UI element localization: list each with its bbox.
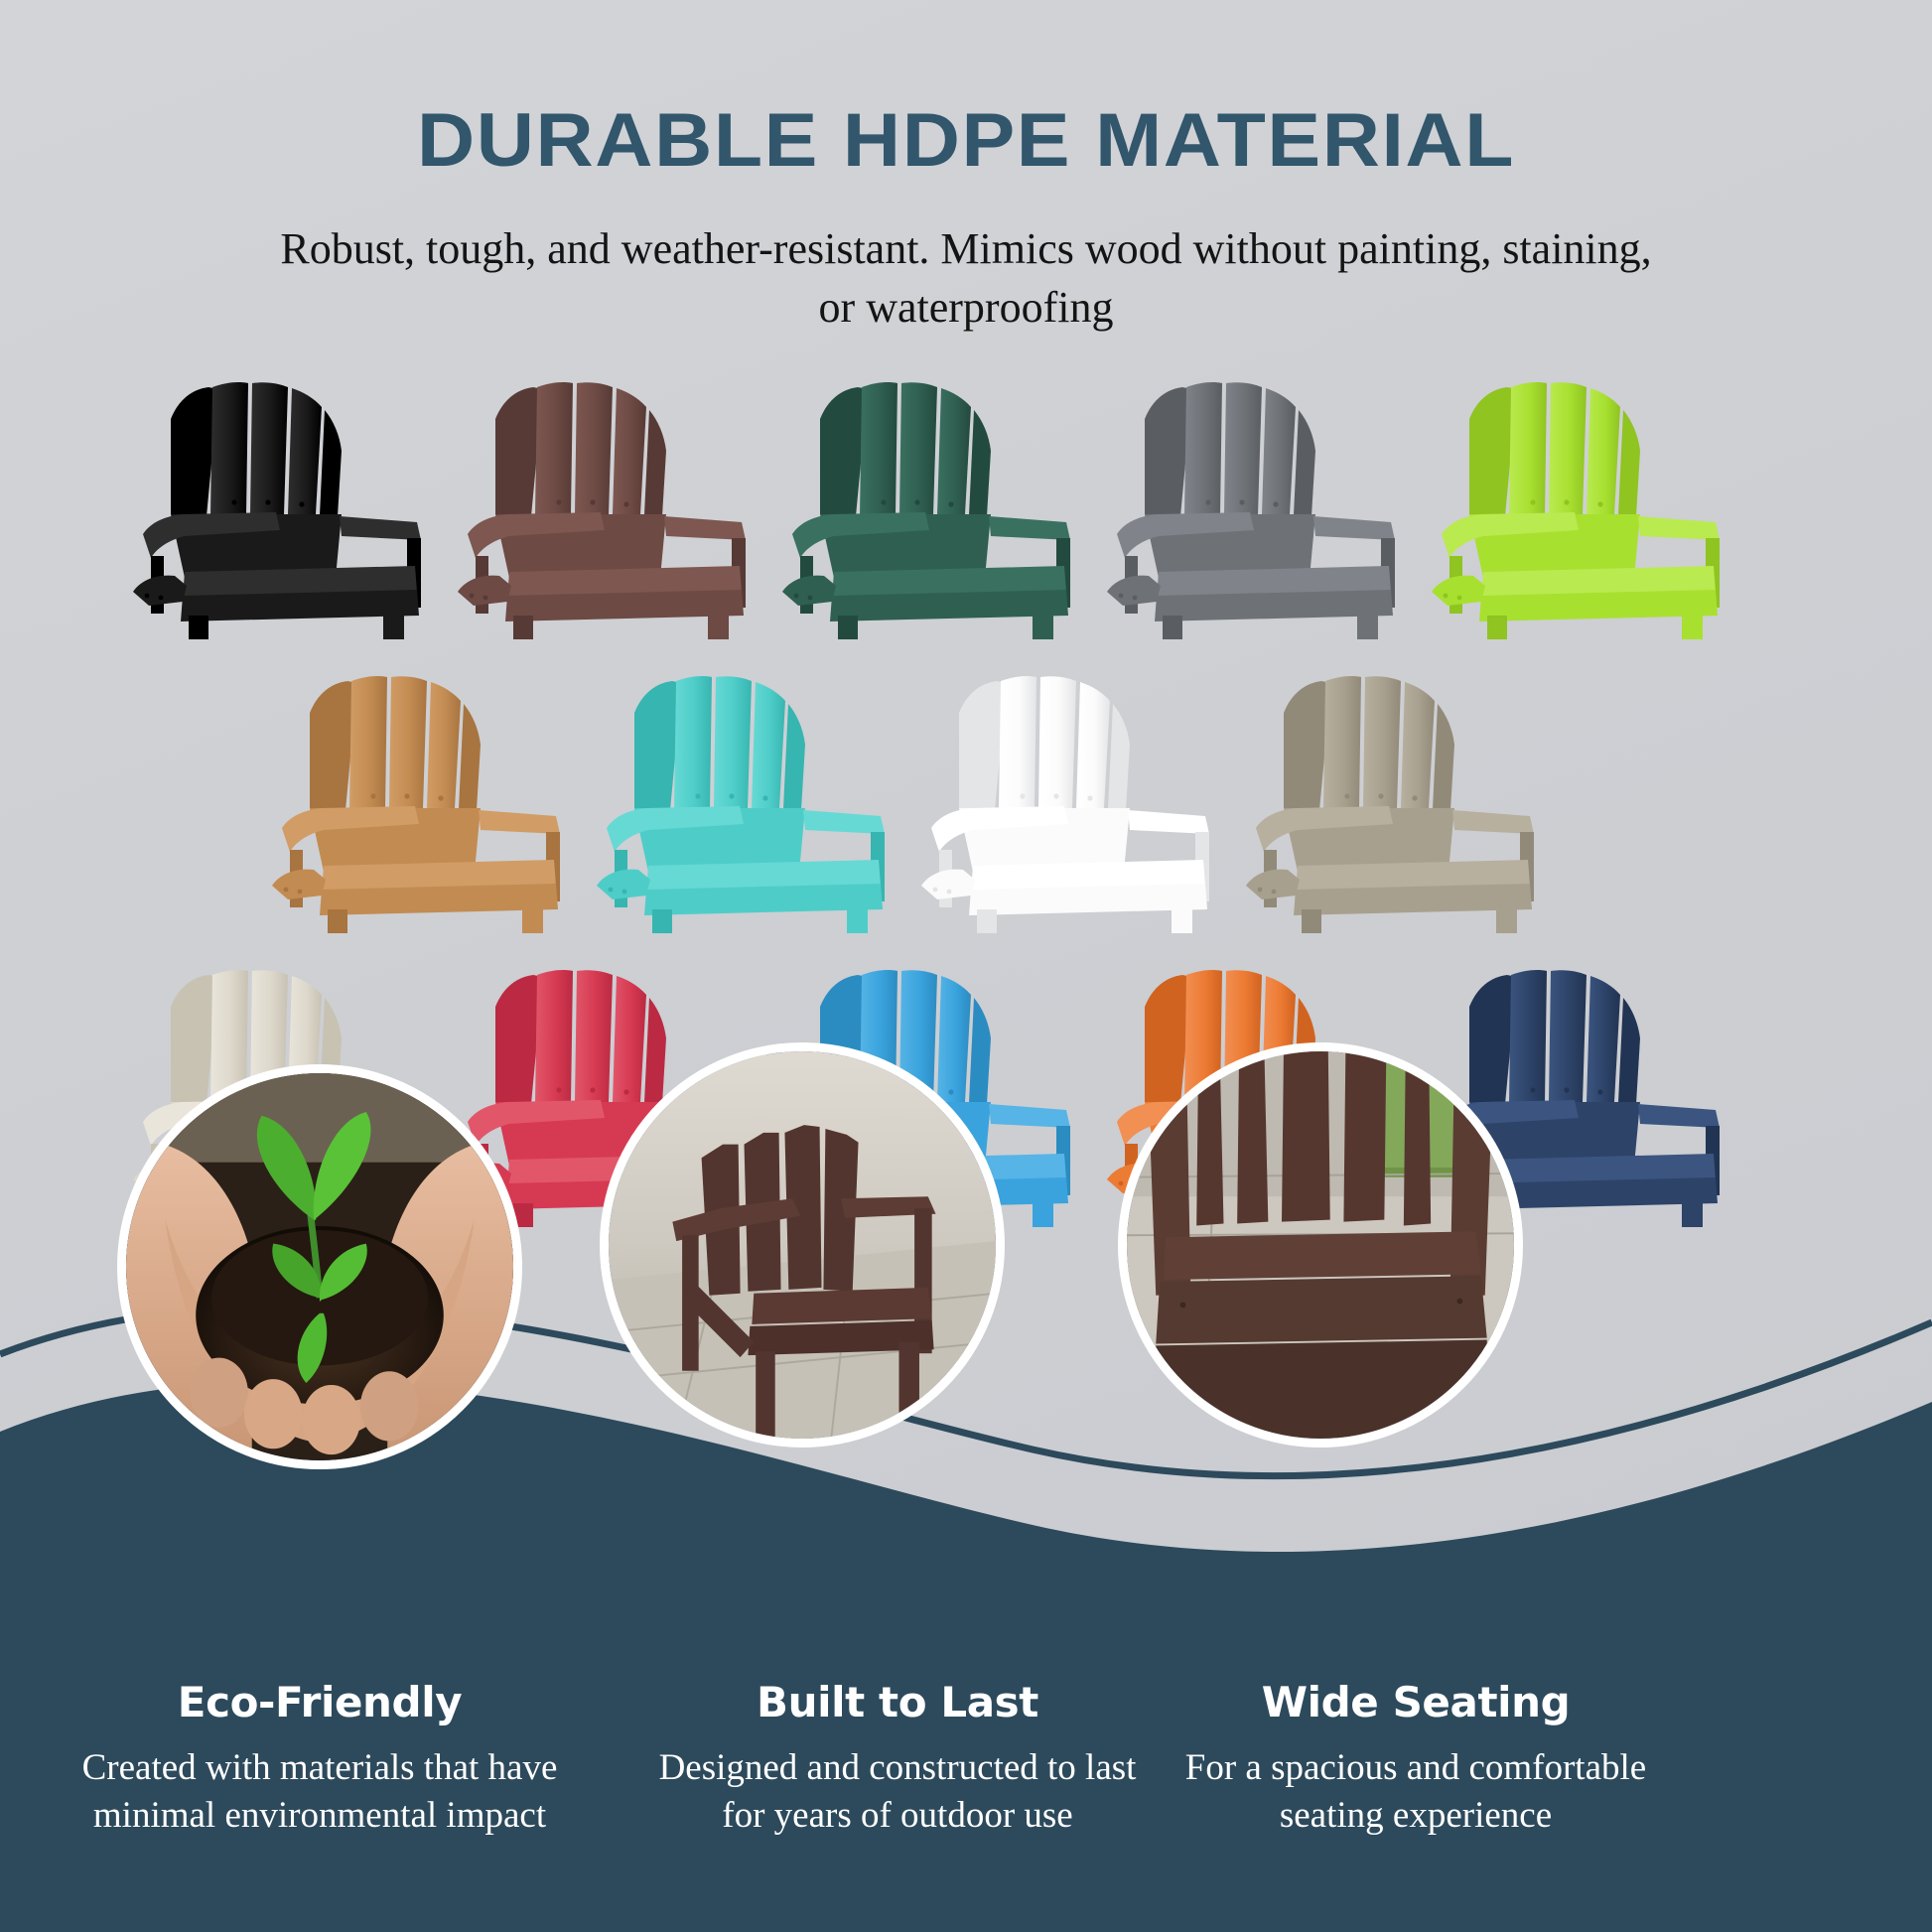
chair-swatch-gray[interactable] xyxy=(1101,365,1399,641)
header: DURABLE HDPE MATERIAL Robust, tough, and… xyxy=(0,0,1932,338)
adirondack-chair-gray-icon xyxy=(1101,365,1399,641)
chair-swatch-teak[interactable] xyxy=(266,659,564,935)
adirondack-chair-khaki-icon xyxy=(1240,659,1538,935)
infographic-canvas: DURABLE HDPE MATERIAL Robust, tough, and… xyxy=(0,0,1932,1932)
page-subtitle: Robust, tough, and weather-resistant. Mi… xyxy=(261,220,1671,338)
adirondack-chair-white-icon xyxy=(915,659,1213,935)
page-title: DURABLE HDPE MATERIAL xyxy=(0,103,1932,179)
feature-description: Created with materials that have minimal… xyxy=(62,1744,578,1840)
brown-adirondack-chair-photo xyxy=(609,1051,996,1439)
feature-title: Eco-Friendly xyxy=(62,1678,578,1726)
feature-built-to-last: Built to Last Designed and constructed t… xyxy=(639,1678,1156,1840)
feature-photo-built-to-last xyxy=(600,1042,1005,1448)
feature-title: Built to Last xyxy=(639,1678,1156,1726)
feature-photo-wide-seating xyxy=(1118,1042,1523,1448)
chair-swatch-dark-green[interactable] xyxy=(776,365,1074,641)
chair-swatch-black[interactable] xyxy=(127,365,425,641)
hands-holding-seedling-photo xyxy=(126,1073,513,1460)
chair-swatch-khaki[interactable] xyxy=(1240,659,1538,935)
chair-swatch-turquoise[interactable] xyxy=(591,659,889,935)
feature-eco-friendly: Eco-Friendly Created with materials that… xyxy=(62,1678,578,1840)
adirondack-chair-dark-green-icon xyxy=(776,365,1074,641)
adirondack-chair-teak-icon xyxy=(266,659,564,935)
adirondack-chair-turquoise-icon xyxy=(591,659,889,935)
feature-title: Wide Seating xyxy=(1158,1678,1674,1726)
feature-photo-eco-friendly xyxy=(117,1064,522,1469)
chair-seat-closeup-photo xyxy=(1127,1051,1514,1439)
chair-swatch-brown[interactable] xyxy=(452,365,750,641)
chair-swatch-white[interactable] xyxy=(915,659,1213,935)
feature-description: For a spacious and comfortable seating e… xyxy=(1158,1744,1674,1840)
chair-row-2 xyxy=(0,659,1932,935)
chair-row-1 xyxy=(0,365,1932,641)
adirondack-chair-black-icon xyxy=(127,365,425,641)
chair-swatch-lime-green[interactable] xyxy=(1426,365,1724,641)
feature-description: Designed and constructed to last for yea… xyxy=(639,1744,1156,1840)
feature-wide-seating: Wide Seating For a spacious and comforta… xyxy=(1158,1678,1674,1840)
adirondack-chair-brown-icon xyxy=(452,365,750,641)
adirondack-chair-lime-green-icon xyxy=(1426,365,1724,641)
